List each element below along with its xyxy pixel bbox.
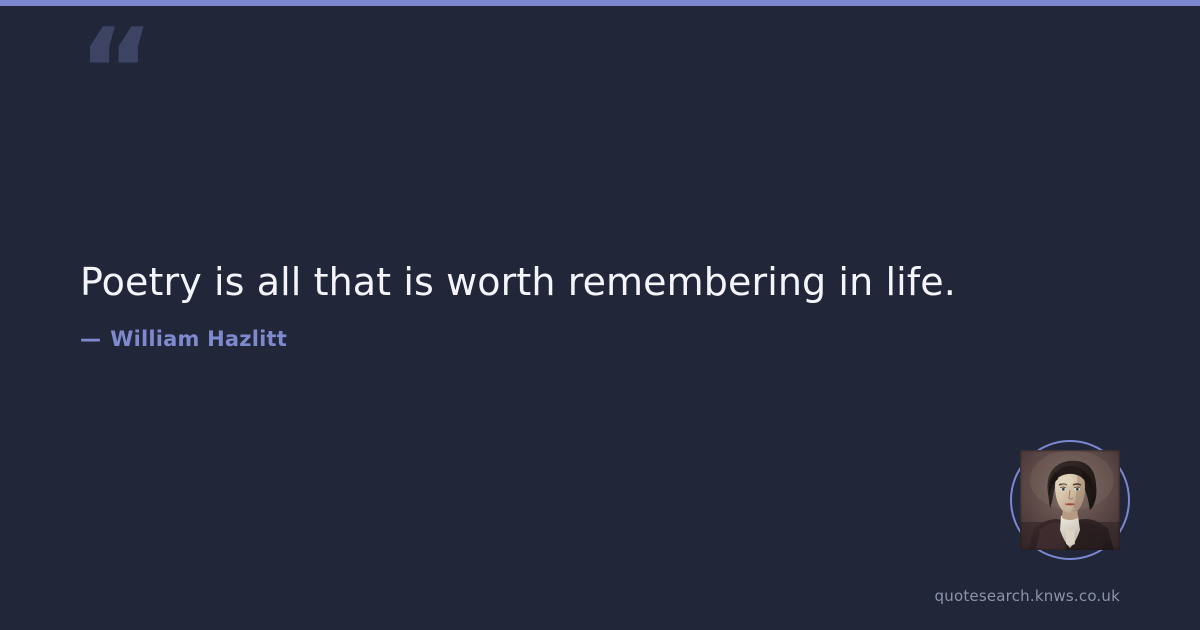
attribution-dash: — [80,327,101,351]
quote-block: Poetry is all that is worth remembering … [80,258,1080,351]
top-accent-bar [0,0,1200,6]
quote-author-name: William Hazlitt [110,327,287,351]
portrait-frame [1020,450,1120,550]
open-quote-icon: “ [78,14,152,130]
quote-attribution: — William Hazlitt [80,327,1080,351]
quote-card: “ Poetry is all that is worth rememberin… [0,0,1200,630]
quote-text: Poetry is all that is worth remembering … [80,258,1080,307]
source-url-label: quotesearch.knws.co.uk [935,587,1120,605]
author-portrait [1020,450,1120,550]
portrait-painting-image [1020,450,1120,550]
